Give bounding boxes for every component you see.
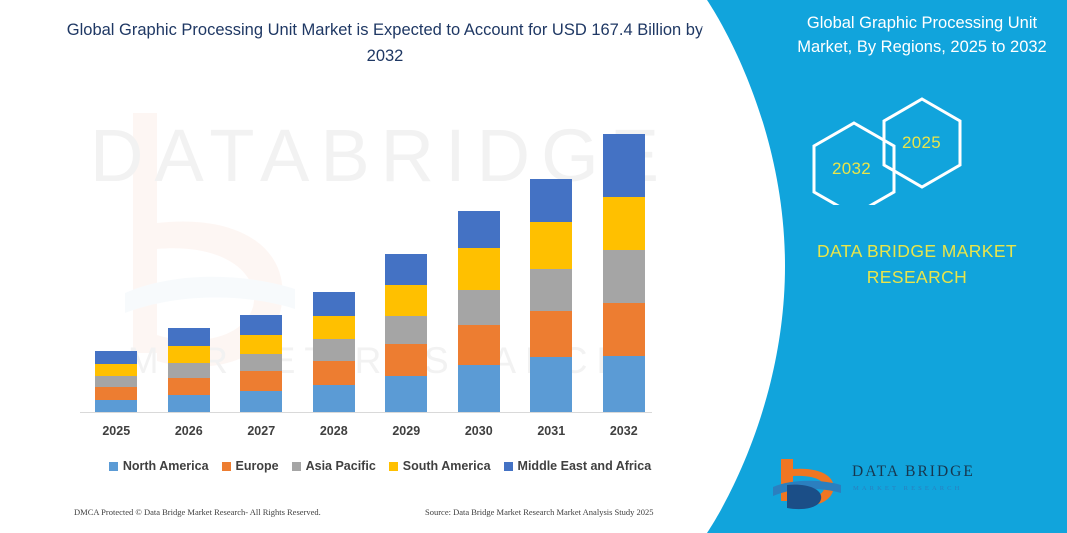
bar-column[interactable] [603, 134, 645, 413]
bar-segment[interactable] [168, 328, 210, 346]
hexagon-group: 2025 2032 [772, 95, 1052, 205]
legend-label: North America [123, 459, 209, 473]
footer: DMCA Protected © Data Bridge Market Rese… [60, 505, 710, 525]
x-axis-label: 2027 [231, 424, 291, 438]
bar-segment[interactable] [458, 365, 500, 413]
legend-item[interactable]: North America [109, 459, 209, 473]
bar-segment[interactable] [530, 179, 572, 222]
bar-segment[interactable] [240, 371, 282, 391]
bar-column[interactable] [168, 328, 210, 413]
bar-segment[interactable] [95, 387, 137, 400]
bar-segment[interactable] [530, 357, 572, 413]
footer-source: Source: Data Bridge Market Research Mark… [425, 507, 654, 517]
x-axis-label: 2030 [449, 424, 509, 438]
bar-column[interactable] [530, 179, 572, 413]
bar-segment[interactable] [95, 364, 137, 376]
legend-label: Middle East and Africa [518, 459, 652, 473]
infographic-root: DATABRIDGE MARKET RESEARCH Global Graphi… [0, 0, 1067, 533]
bar-segment[interactable] [240, 354, 282, 371]
logo-subtext: MARKET RESEARCH [853, 485, 962, 492]
bar-segment[interactable] [603, 250, 645, 303]
bar-segment[interactable] [95, 376, 137, 387]
bar-column[interactable] [313, 292, 355, 413]
bar-segment[interactable] [313, 292, 355, 316]
legend-swatch-icon [292, 462, 301, 471]
bar-segment[interactable] [458, 325, 500, 365]
bar-segment[interactable] [168, 346, 210, 363]
x-axis-label: 2032 [594, 424, 654, 438]
footer-copyright: DMCA Protected © Data Bridge Market Rese… [74, 507, 321, 517]
bar-segment[interactable] [313, 385, 355, 413]
bar-segment[interactable] [240, 315, 282, 335]
bar-segment[interactable] [385, 376, 427, 413]
bar-segment[interactable] [385, 344, 427, 376]
bar-segment[interactable] [313, 339, 355, 361]
bar-segment[interactable] [530, 222, 572, 269]
bar-segment[interactable] [168, 395, 210, 413]
legend-swatch-icon [389, 462, 398, 471]
bar-segment[interactable] [313, 316, 355, 339]
bar-column[interactable] [458, 211, 500, 413]
bar-segment[interactable] [385, 254, 427, 285]
bar-segment[interactable] [240, 335, 282, 354]
bar-segment[interactable] [458, 211, 500, 248]
chart-legend: North AmericaEuropeAsia PacificSouth Ame… [80, 456, 680, 476]
bar-segment[interactable] [95, 351, 137, 364]
legend-item[interactable]: Europe [222, 459, 279, 473]
legend-label: Europe [236, 459, 279, 473]
brand-name: DATA BRIDGE MARKET RESEARCH [782, 238, 1052, 291]
bar-segment[interactable] [530, 269, 572, 311]
legend-item[interactable]: Middle East and Africa [504, 459, 652, 473]
data-bridge-logo-icon [767, 455, 847, 513]
logo: DATA BRIDGE MARKET RESEARCH [767, 455, 997, 517]
legend-label: South America [403, 459, 491, 473]
bar-segment[interactable] [603, 303, 645, 356]
bar-segment[interactable] [385, 285, 427, 316]
bar-segment[interactable] [385, 316, 427, 344]
legend-swatch-icon [504, 462, 513, 471]
bar-segment[interactable] [603, 197, 645, 250]
x-axis-label: 2025 [86, 424, 146, 438]
x-axis-label: 2026 [159, 424, 219, 438]
bar-segment[interactable] [168, 378, 210, 395]
right-panel-title: Global Graphic Processing Unit Market, B… [787, 12, 1057, 60]
bar-column[interactable] [385, 254, 427, 413]
x-axis-label: 2028 [304, 424, 364, 438]
bar-segment[interactable] [603, 134, 645, 197]
x-axis-label: 2031 [521, 424, 581, 438]
bar-segment[interactable] [458, 248, 500, 290]
right-panel: Global Graphic Processing Unit Market, B… [667, 0, 1067, 533]
legend-item[interactable]: Asia Pacific [292, 459, 376, 473]
bar-segment[interactable] [530, 311, 572, 357]
bar-segment[interactable] [168, 363, 210, 378]
bar-segment[interactable] [603, 356, 645, 413]
logo-wordmark: DATA BRIDGE [852, 463, 975, 481]
legend-swatch-icon [222, 462, 231, 471]
legend-item[interactable]: South America [389, 459, 491, 473]
chart-title: Global Graphic Processing Unit Market is… [60, 18, 710, 69]
bar-segment[interactable] [240, 391, 282, 413]
bar-column[interactable] [240, 315, 282, 413]
legend-swatch-icon [109, 462, 118, 471]
legend-label: Asia Pacific [306, 459, 376, 473]
chart-plot-area [80, 100, 660, 413]
bar-column[interactable] [95, 351, 137, 413]
x-axis-line [80, 412, 652, 413]
x-axis-labels: 20252026202720282029203020312032 [80, 424, 660, 446]
hexagon-label-2025: 2025 [902, 133, 941, 153]
hexagon-label-2032: 2032 [832, 159, 871, 179]
bar-segment[interactable] [458, 290, 500, 325]
bar-segment[interactable] [313, 361, 355, 385]
x-axis-label: 2029 [376, 424, 436, 438]
